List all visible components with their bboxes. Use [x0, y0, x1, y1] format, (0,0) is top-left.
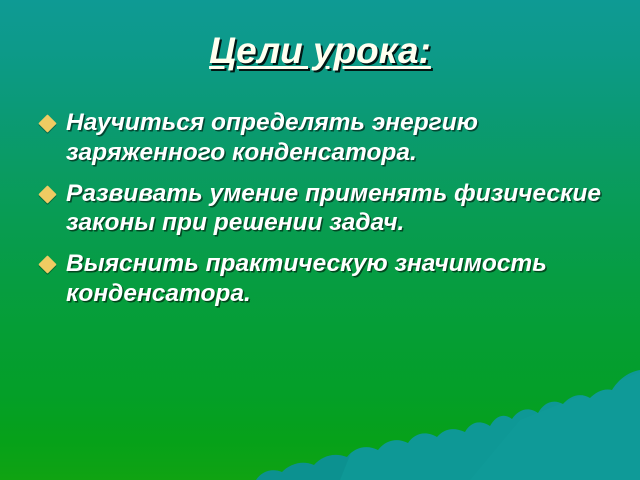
list-item: Развивать умение применять физические за…	[36, 179, 606, 239]
list-item-text: Развивать умение применять физические за…	[66, 179, 606, 239]
list-item-text: Выяснить практическую значимость конденс…	[66, 249, 606, 309]
list-item: Научиться определять энергию заряженного…	[36, 108, 606, 168]
diamond-bullet-icon	[38, 185, 56, 203]
list-item-text: Научиться определять энергию заряженного…	[66, 108, 606, 168]
presentation-slide: Цели урока: Научиться определять энергию…	[0, 0, 640, 480]
goals-list: Научиться определять энергию заряженного…	[36, 108, 606, 320]
list-item: Выяснить практическую значимость конденс…	[36, 249, 606, 309]
diamond-bullet-icon	[38, 114, 56, 132]
page-title: Цели урока:	[209, 30, 431, 72]
title-block: Цели урока:	[0, 30, 640, 72]
diamond-bullet-icon	[38, 255, 56, 273]
